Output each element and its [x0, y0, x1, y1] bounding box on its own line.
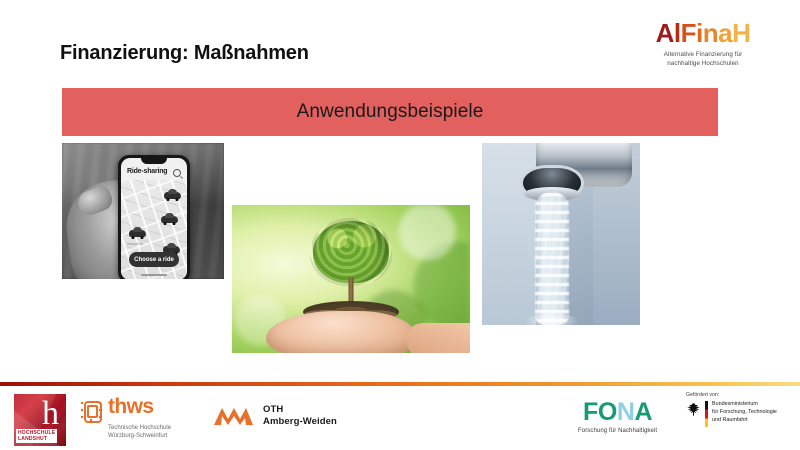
bmbf-line2: für Forschung, Technologie — [712, 409, 777, 417]
car-icon — [164, 192, 181, 199]
open-palm — [266, 311, 416, 353]
fona-wordmark: FONA — [578, 400, 657, 425]
fona-part-a: A — [635, 398, 653, 426]
oth-aw-icon — [212, 406, 254, 426]
smartphone-device: Ride-sharing Sample St Choose a ride — [118, 155, 190, 279]
alfinah-letter-h: H — [732, 18, 750, 48]
water-stream — [535, 193, 569, 325]
alfinah-logo: AlFinaH Alternative Finanzierung für nac… — [628, 20, 778, 69]
footer-logo-bar: h HOCHSCHULE LANDSHUT thws Technische Ho… — [0, 392, 800, 450]
smartphone-screen: Ride-sharing Sample St Choose a ride — [121, 158, 187, 279]
home-indicator — [141, 274, 167, 276]
photo-tree-in-hand — [232, 205, 470, 353]
page-title: Finanzierung: Maßnahmen — [60, 42, 309, 65]
german-flag-bar — [705, 401, 708, 427]
landshut-label-line2: LANDSHUT — [18, 436, 55, 442]
logo-bundesministerium: Gefördert von: Bundesministerium für For… — [686, 392, 794, 427]
alfinah-letter-a: A — [656, 18, 674, 48]
alfinah-tagline-line2: nachhaltige Hochschulen — [628, 60, 778, 69]
thws-subtitle-line1: Technische Hochschule — [108, 424, 200, 432]
slide-canvas: Finanzierung: Maßnahmen AlFinaH Alternat… — [0, 0, 800, 450]
federal-eagle-icon — [686, 402, 701, 417]
water-splash — [525, 313, 579, 325]
thws-wordmark: thws — [108, 398, 153, 417]
photo-running-water — [482, 143, 640, 325]
funded-by-label: Gefördert von: — [686, 392, 794, 398]
thws-square-icon — [80, 399, 102, 421]
fona-part-n: N — [617, 398, 635, 426]
logo-fona: FONA Forschung für Nachhaltigkeit — [578, 400, 657, 434]
search-icon — [173, 169, 181, 177]
bmbf-name: Bundesministerium für Forschung, Technol… — [712, 401, 777, 424]
alfinah-letter-f: F — [681, 18, 696, 48]
oth-line1: OTH — [263, 404, 337, 416]
footer-divider — [0, 382, 800, 386]
thws-subtitle-line2: Würzburg-Schweinfurt — [108, 432, 200, 440]
street-label: Sample St — [127, 242, 143, 246]
alfinah-letter-l: l — [674, 18, 681, 48]
oth-wordmark: OTH Amberg-Weiden — [263, 404, 337, 428]
photo-ride-sharing: Ride-sharing Sample St Choose a ride — [62, 143, 224, 279]
thws-subtitle: Technische Hochschule Würzburg-Schweinfu… — [108, 424, 200, 441]
bmbf-line3: und Raumfahrt — [712, 417, 777, 425]
thws-row: thws — [80, 398, 200, 421]
alfinah-letter-i: i — [696, 18, 703, 48]
alfinah-wordmark: AlFinaH — [628, 20, 778, 46]
tree-crown — [313, 221, 389, 283]
alfinah-tagline-line1: Alternative Finanzierung für — [628, 51, 778, 60]
landshut-h-mark: h — [42, 397, 59, 431]
choose-a-ride-button: Choose a ride — [129, 252, 179, 267]
section-banner-label: Anwendungsbeispiele — [297, 101, 484, 123]
fona-part-fo: FO — [583, 398, 617, 426]
car-icon — [161, 216, 178, 223]
logo-thws: thws Technische Hochschule Würzburg-Schw… — [80, 398, 200, 441]
landshut-label-line1: HOCHSCHULE — [18, 430, 55, 436]
section-banner: Anwendungsbeispiele — [62, 88, 718, 136]
phone-notch — [141, 158, 167, 164]
fona-subtitle: Forschung für Nachhaltigkeit — [578, 428, 657, 434]
bmbf-row: Bundesministerium für Forschung, Technol… — [686, 401, 794, 427]
bmbf-line1: Bundesministerium — [712, 401, 777, 409]
logo-hochschule-landshut: h HOCHSCHULE LANDSHUT — [14, 394, 66, 446]
landshut-label: HOCHSCHULE LANDSHUT — [16, 429, 57, 444]
alfinah-letter-n: n — [703, 18, 718, 48]
wrist — [406, 323, 470, 353]
alfinah-letter-a2: a — [718, 18, 732, 48]
app-title: Ride-sharing — [127, 168, 167, 175]
oth-line2: Amberg-Weiden — [263, 416, 337, 428]
car-icon — [129, 230, 146, 237]
alfinah-tagline: Alternative Finanzierung für nachhaltige… — [628, 51, 778, 69]
thws-inner-square — [87, 405, 98, 418]
logo-oth-amberg-weiden: OTH Amberg-Weiden — [212, 404, 337, 428]
